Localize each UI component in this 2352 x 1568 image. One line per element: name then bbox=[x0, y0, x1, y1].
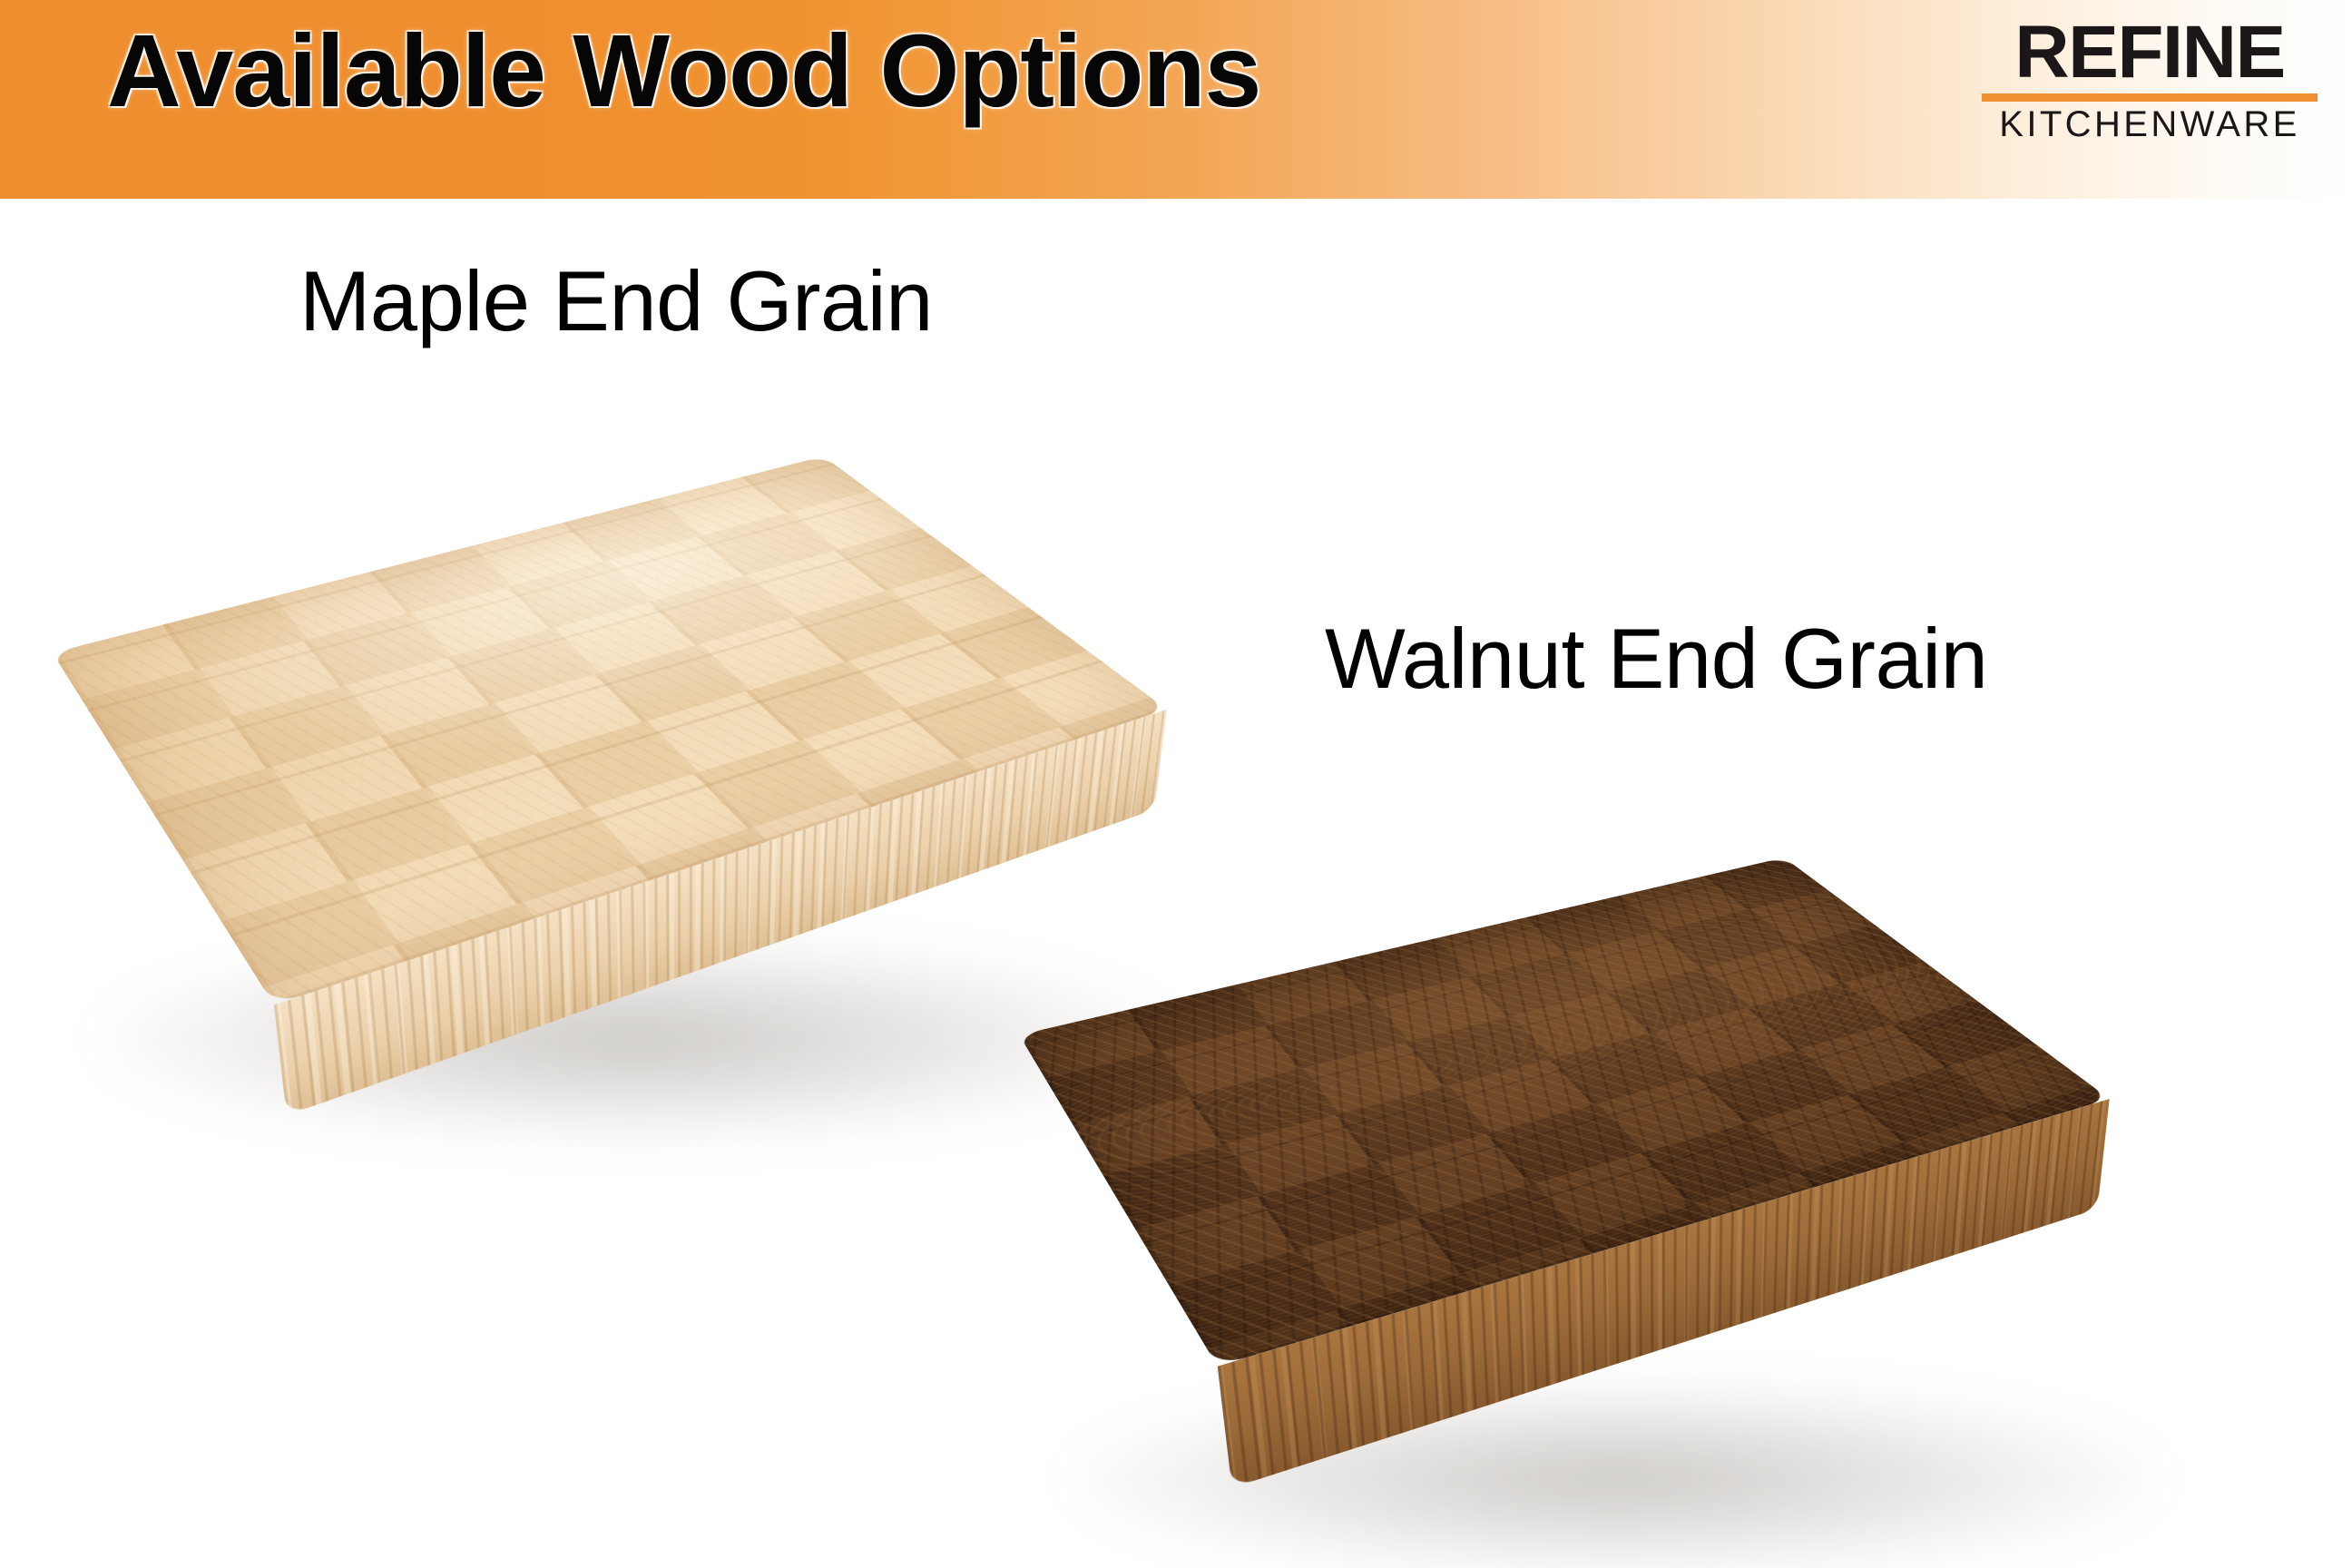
walnut-cutting-board[interactable] bbox=[1019, 857, 2110, 1367]
logo-secondary-text: KITCHENWARE bbox=[1982, 105, 2318, 143]
logo-primary-text: REFINE bbox=[1978, 16, 2320, 89]
logo-divider-rule bbox=[1982, 93, 2318, 102]
slide-canvas: Available Wood Options REFINE KITCHENWAR… bbox=[0, 0, 2352, 1568]
brand-logo[interactable]: REFINE KITCHENWARE bbox=[1982, 16, 2318, 143]
header-banner: Available Wood Options REFINE KITCHENWAR… bbox=[0, 0, 2352, 199]
page-title: Available Wood Options bbox=[107, 7, 1260, 135]
product-label-walnut: Walnut End Grain bbox=[1325, 610, 1987, 708]
walnut-board-stage bbox=[980, 717, 2352, 1568]
